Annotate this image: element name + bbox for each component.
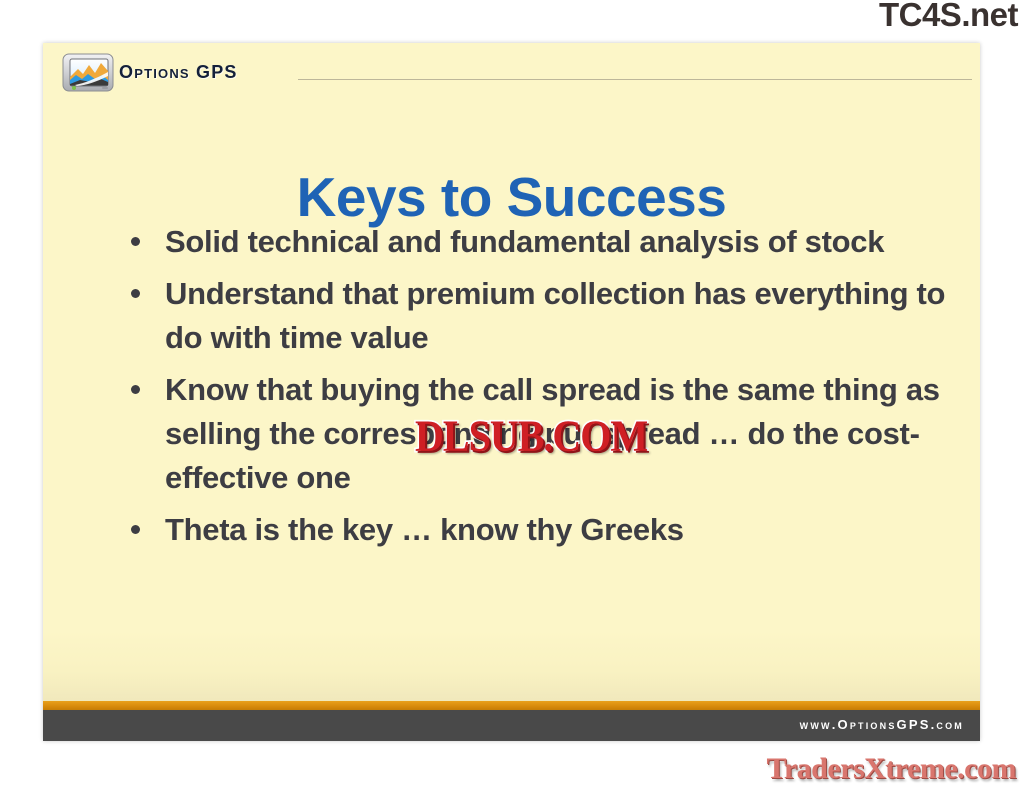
presentation-slide: Options GPS Keys to Success Solid techni… (43, 43, 980, 741)
bullet-dot-icon (131, 385, 140, 394)
bullet-dot-icon (131, 237, 140, 246)
bullet-list: Solid technical and fundamental analysis… (83, 220, 963, 560)
brand-title: Options GPS (119, 62, 238, 83)
watermark-tradersxtreme: TradersXtreme.com (767, 752, 1016, 785)
list-item-text: Solid technical and fundamental analysis… (165, 224, 884, 259)
list-item: Solid technical and fundamental analysis… (83, 220, 963, 264)
footer-url: www.OptionsGPS.com (800, 717, 964, 732)
watermark-dlsub: DLSUB.COM (415, 414, 647, 458)
site-brand-tc4s: TC4S.net (879, 0, 1018, 33)
bullet-dot-icon (131, 525, 140, 534)
list-item: Understand that premium collection has e… (83, 272, 963, 360)
list-item-text: Understand that premium collection has e… (165, 276, 945, 355)
slide-footer: www.OptionsGPS.com (43, 710, 980, 741)
list-item: Theta is the key … know thy Greeks (83, 508, 963, 552)
bullet-dot-icon (131, 289, 140, 298)
gps-device-icon (61, 51, 115, 95)
footer-accent-bar (43, 701, 980, 710)
slide-header: Options GPS (43, 43, 980, 103)
list-item-text: Theta is the key … know thy Greeks (165, 512, 684, 547)
header-divider (298, 79, 972, 80)
